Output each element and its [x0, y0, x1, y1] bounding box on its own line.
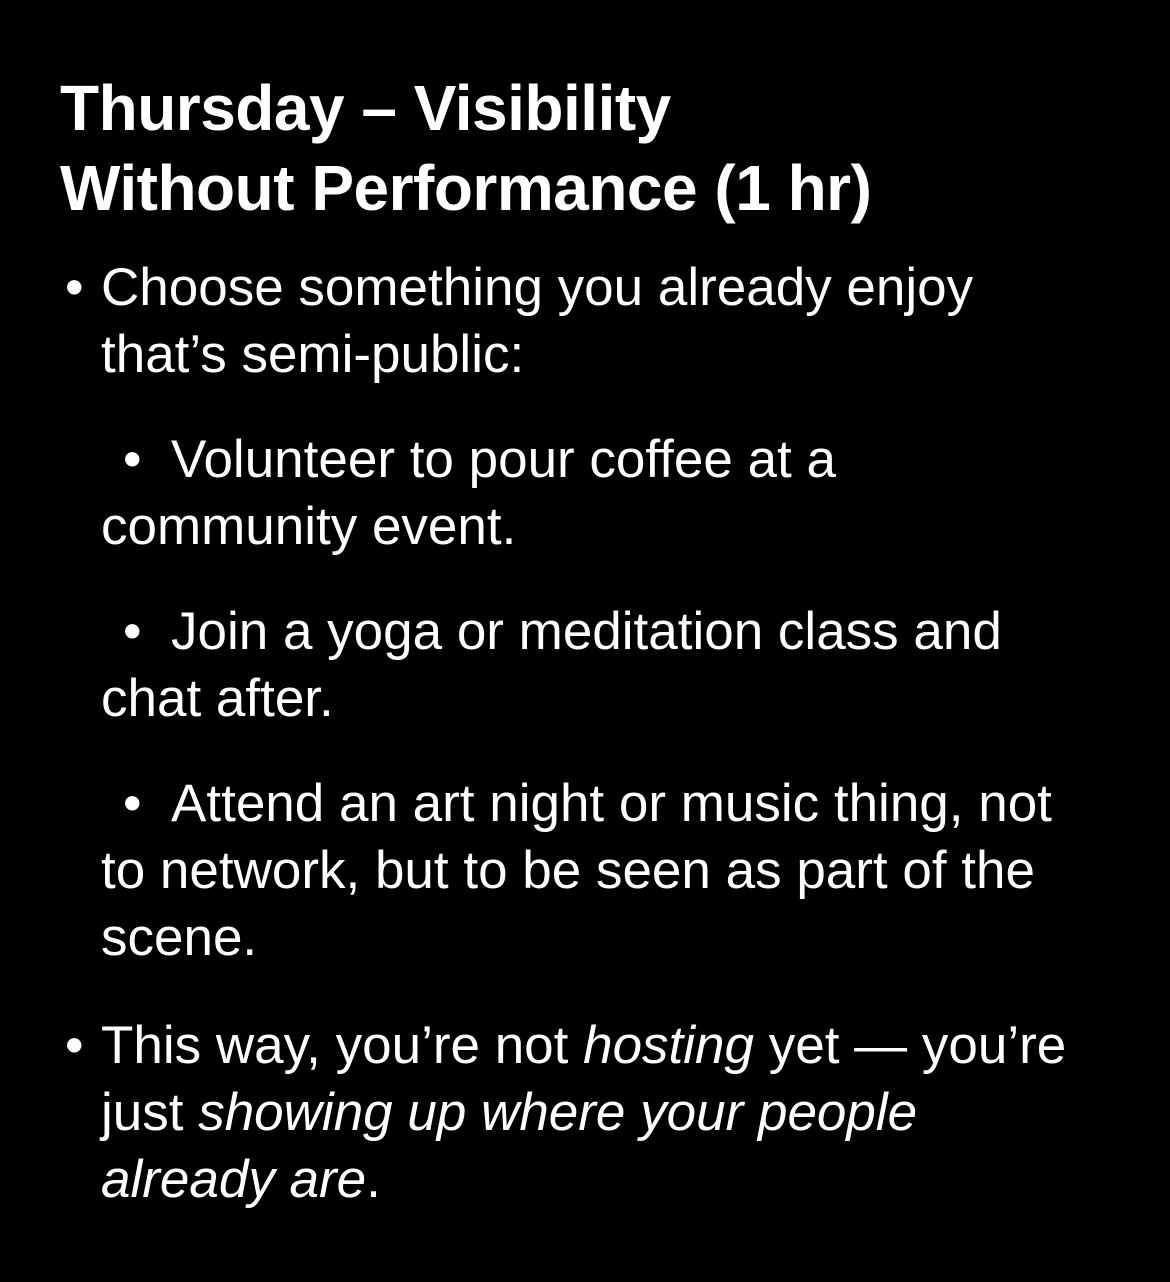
document-body: Thursday – Visibility Without Performanc… — [60, 0, 1088, 1213]
list-item: •This way, you’re not hosting yet — you’… — [60, 1012, 1088, 1213]
sub-bullet-marker-icon: • — [123, 774, 142, 833]
sub-bullet-marker-icon: • — [123, 430, 142, 489]
bullet-list: •Choose something you already enjoy that… — [60, 254, 1088, 1213]
list-item-text-segment: . — [366, 1150, 381, 1209]
page-title: Thursday – Visibility Without Performanc… — [60, 0, 890, 228]
bullet-marker-icon: • — [65, 1012, 85, 1079]
list-item-emphasis-hosting: hosting — [583, 1016, 754, 1075]
sub-list-item-text: Join a yoga or meditation class and chat… — [101, 602, 1002, 728]
sub-list-item: • Volunteer to pour coffee at a communit… — [101, 426, 1088, 560]
bullet-marker-icon: • — [65, 254, 85, 321]
list-item-emphasis-showing-up: showing up where your people already are — [101, 1083, 917, 1209]
sub-list-item-text: Attend an art night or music thing, not … — [101, 774, 1052, 967]
document-page: Thursday – Visibility Without Performanc… — [0, 0, 1170, 1282]
sub-list-item: • Join a yoga or meditation class and ch… — [101, 598, 1088, 732]
sub-list-item-text: Volunteer to pour coffee at a community … — [101, 430, 836, 556]
list-item: •Choose something you already enjoy that… — [60, 254, 1088, 971]
list-item-text-segment: This way, you’re not — [101, 1016, 583, 1075]
list-item-text: Choose something you already enjoy that’… — [101, 258, 973, 384]
sub-bullet-list: • Volunteer to pour coffee at a communit… — [101, 426, 1088, 971]
sub-bullet-marker-icon: • — [123, 602, 142, 661]
sub-list-item: • Attend an art night or music thing, no… — [101, 770, 1088, 971]
